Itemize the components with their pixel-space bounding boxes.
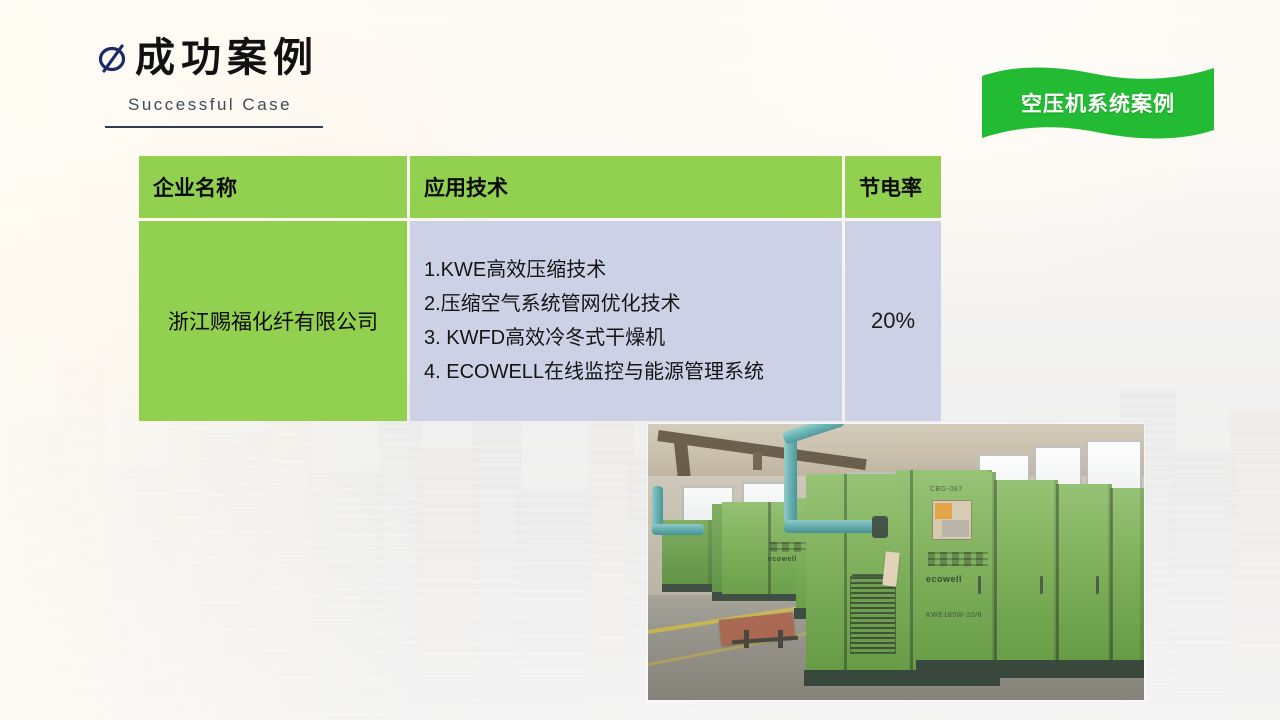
photo-compressor-seam [994,480,997,676]
list-item: 4. ECOWELL在线监控与能源管理系统 [424,355,842,389]
photo-cart-wheel [778,630,783,648]
status-badge-label: 空压机系统案例 [978,88,1218,118]
cell-company-name: 浙江赐福化纤有限公司 [139,221,407,421]
slide-canvas: 成功案例 Successful Case 空压机系统案例 企业名称 应用技术 节… [0,0,1280,720]
photo-brand-logo: ecowell [926,574,962,584]
photo-compressor-base [916,660,1144,678]
column-header-company: 企业名称 [139,156,407,218]
photo-compressor-seam [910,470,913,682]
table-header-row: 企业名称 应用技术 节电率 [139,156,941,218]
photo-pipe-flange [872,516,888,538]
photo-compressor-seam [1056,484,1059,668]
table-row: 浙江赐福化纤有限公司 1.KWE高效压缩技术 2.压缩空气系统管网优化技术 3.… [139,221,941,421]
photo-compressor-base [662,584,712,592]
list-item: 3. KWFD高效冷冬式干燥机 [424,321,842,355]
photo-compressor-seam [1110,488,1113,662]
photo-pipe-far [652,524,704,535]
photo-cabinet-handle [978,576,981,594]
photo-roof-brace [753,452,762,470]
photo-cart-wheel [744,630,749,648]
photo-compressor-vent [850,576,896,654]
column-header-technology: 应用技术 [410,156,842,218]
photo-pipe-horizontal [784,520,884,533]
technology-list: 1.KWE高效压缩技术 2.压缩空气系统管网优化技术 3. KWFD高效冷冬式干… [424,253,842,389]
photo-pipe-vertical [784,434,797,522]
photo-compressor-vents [928,552,988,566]
status-badge: 空压机系统案例 [978,62,1218,144]
cell-saving-rate: 20% [845,221,941,421]
page-title: 成功案例 [95,38,319,78]
photo-compressor-cabinet [1112,488,1144,662]
list-item: 1.KWE高效压缩技术 [424,253,842,287]
photo-machine-code: CBG-087 [930,486,963,493]
case-photo: ecowell CBG-087 ecowell KWE185W-20/8 [648,424,1144,700]
photo-compressor-seam [844,474,847,674]
title-underline [105,126,323,128]
photo-compressor-brand: ecowell [768,556,797,563]
list-item: 2.压缩空气系统管网优化技术 [424,287,842,321]
case-table: 企业名称 应用技术 节电率 浙江赐福化纤有限公司 1.KWE高效压缩技术 2.压… [136,153,944,424]
photo-machine-model: KWE185W-20/8 [926,612,982,619]
cell-technologies: 1.KWE高效压缩技术 2.压缩空气系统管网优化技术 3. KWFD高效冷冬式干… [410,221,842,421]
empty-set-icon [95,41,129,75]
photo-compressor-cabinet [996,480,1058,676]
page-title-text: 成功案例 [135,38,319,78]
photo-cabinet-handle [1040,576,1043,594]
photo-compressor-cabinet [1058,484,1112,668]
photo-compressor-vents [770,542,806,552]
page-subtitle: Successful Case [128,95,292,115]
photo-cabinet-handle [1096,576,1099,594]
photo-control-panel [932,500,972,540]
column-header-rate: 节电率 [845,156,941,218]
